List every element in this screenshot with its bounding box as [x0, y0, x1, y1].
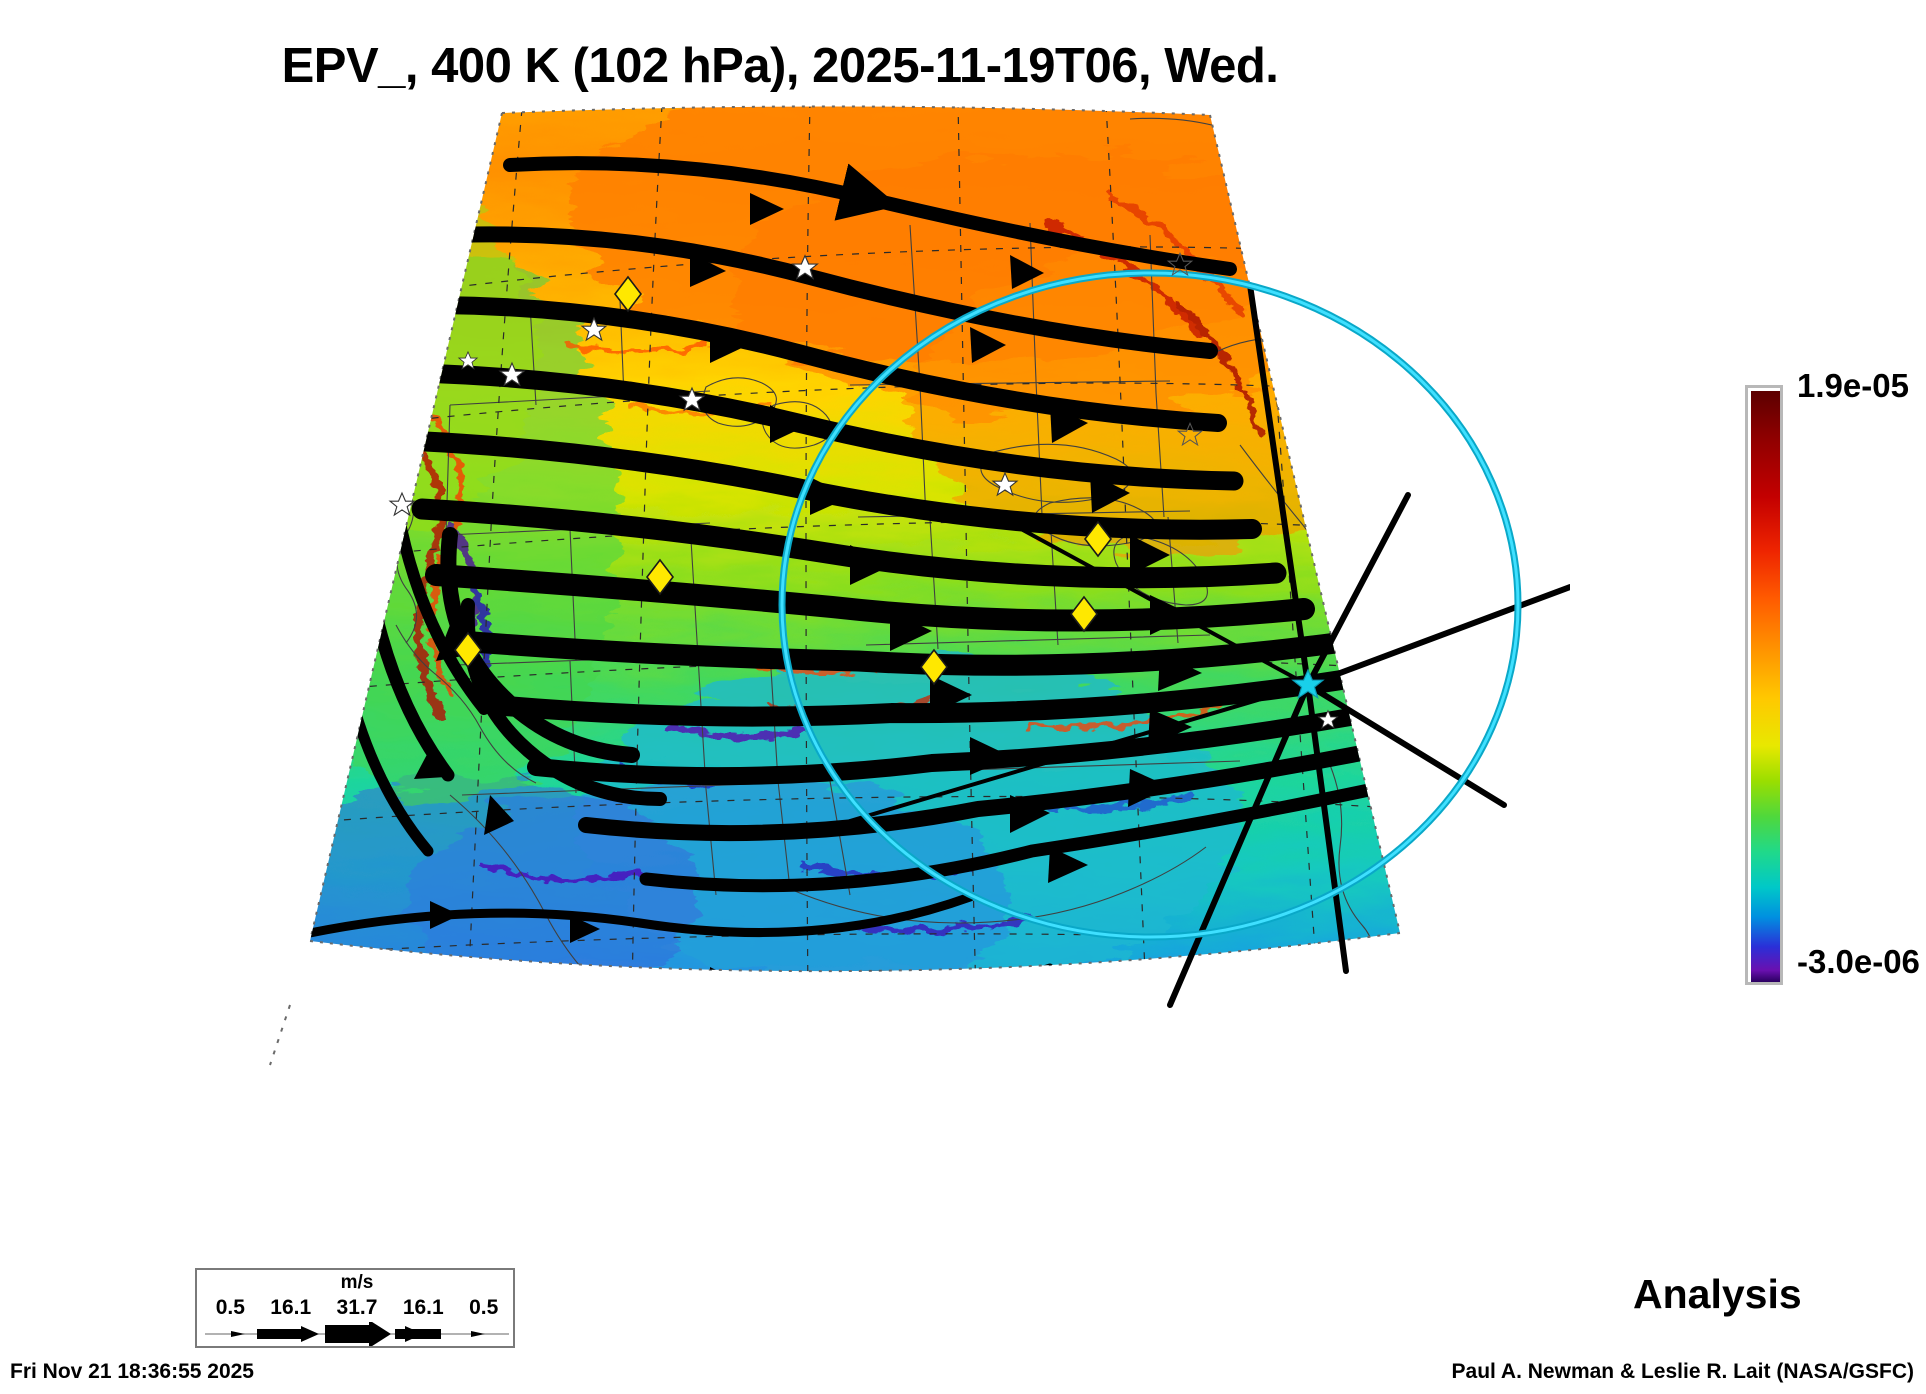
wind-speed-legend: m/s 0.5 16.1 31.7 16.1 0.5: [195, 1268, 515, 1348]
map-panel: [150, 105, 1570, 1115]
colorbar-min-label: -3.0e-06: [1797, 943, 1920, 981]
generation-timestamp: Fri Nov 21 18:36:55 2025: [10, 1360, 254, 1384]
analysis-label: Analysis: [1633, 1271, 1802, 1318]
epv-map-canvas: [150, 105, 1570, 1115]
wind-tick-3: 16.1: [403, 1296, 444, 1320]
wind-tick-1: 16.1: [270, 1296, 311, 1320]
wind-tick-2: 31.7: [337, 1296, 378, 1320]
author-credit: Paul A. Newman & Leslie R. Lait (NASA/GS…: [1452, 1360, 1914, 1384]
colorbar: 1.9e-05 -3.0e-06: [1745, 385, 1925, 995]
wind-legend-ticks: 0.5 16.1 31.7 16.1 0.5: [197, 1296, 517, 1320]
wind-tick-0: 0.5: [216, 1296, 245, 1320]
colorbar-frame: [1745, 385, 1783, 985]
wind-legend-unit: m/s: [197, 1272, 517, 1294]
page-title: EPV_, 400 K (102 hPa), 2025-11-19T06, We…: [0, 38, 1560, 94]
colorbar-max-label: 1.9e-05: [1797, 367, 1909, 405]
colorbar-gradient: [1751, 391, 1780, 982]
wind-tick-4: 0.5: [469, 1296, 498, 1320]
wind-legend-arrows: [205, 1322, 509, 1346]
